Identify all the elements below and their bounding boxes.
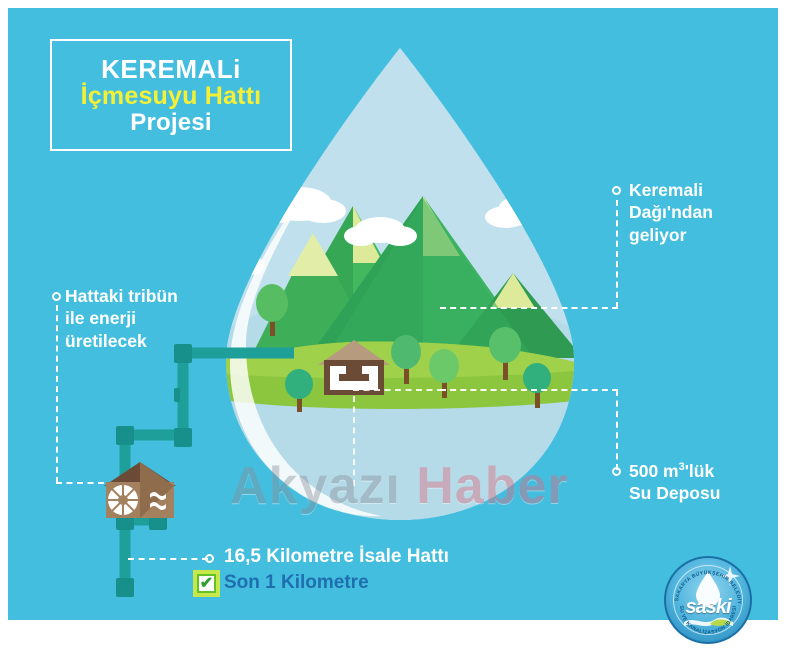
pipeline-checkbox[interactable]: ✔ — [197, 574, 216, 593]
callout-depot-line1: 500 m3'lük — [629, 460, 778, 482]
callout-depot: 500 m3'lük Su Deposu — [629, 460, 778, 505]
callout-pipeline-sub: Son 1 Kilometre — [224, 571, 369, 595]
check-icon: ✔ — [200, 576, 213, 592]
marker-pipeline — [205, 554, 214, 563]
connector-house-horizontal — [353, 389, 443, 391]
callout-turbine-line3: üretilecek — [65, 330, 225, 352]
depot-volume-prefix: 500 m — [629, 461, 679, 481]
watermark-part-2: Haber — [416, 457, 568, 515]
callout-mountain-line1: Keremali — [629, 179, 778, 201]
blue-panel: KEREMALi İçmesuyu Hattı Projesi Keremali… — [8, 8, 778, 620]
callout-depot-line2: Su Deposu — [629, 482, 778, 504]
callout-mountain: Keremali Dağı'ndan geliyor — [629, 179, 778, 246]
marker-depot — [612, 467, 621, 476]
watermark-part-1: Akyazı — [230, 457, 401, 515]
connector-pipeline-horizontal — [128, 558, 208, 560]
callout-mountain-line2: Dağı'ndan — [629, 201, 778, 223]
connector-mountain-vertical — [616, 200, 618, 308]
depot-volume-suffix: 'lük — [685, 461, 714, 481]
callout-turbine-line1: Hattaki tribün — [65, 285, 225, 307]
marker-turbine — [52, 292, 61, 301]
connector-mountain-horizontal — [440, 307, 618, 309]
connector-turbine-horizontal — [56, 482, 104, 484]
saski-logo: T.C. SAKARYA BÜYÜKŞEHİR BELEDİYESİ SU VE… — [664, 556, 752, 644]
callout-mountain-line3: geliyor — [629, 224, 778, 246]
title-box: KEREMALi İçmesuyu Hattı Projesi — [50, 39, 292, 151]
water-mill-icon — [100, 460, 180, 524]
infographic-poster: KEREMALi İçmesuyu Hattı Projesi Keremali… — [0, 0, 800, 654]
connector-depot-vertical — [616, 390, 618, 470]
connector-turbine-vertical — [56, 305, 58, 483]
callout-turbine-line2: ile enerji — [65, 307, 225, 329]
connector-depot-horizontal — [440, 389, 618, 391]
logo-wordmark: saski — [664, 596, 752, 619]
watermark: Akyazı Haber — [230, 456, 569, 516]
title-line-3: Projesi — [130, 110, 211, 136]
title-line-1: KEREMALi — [101, 55, 241, 83]
marker-mountain — [612, 186, 621, 195]
callout-pipeline-main: 16,5 Kilometre İsale Hattı — [224, 545, 449, 569]
title-line-2: İçmesuyu Hattı — [81, 83, 262, 110]
callout-turbine: Hattaki tribün ile enerji üretilecek — [65, 285, 225, 352]
